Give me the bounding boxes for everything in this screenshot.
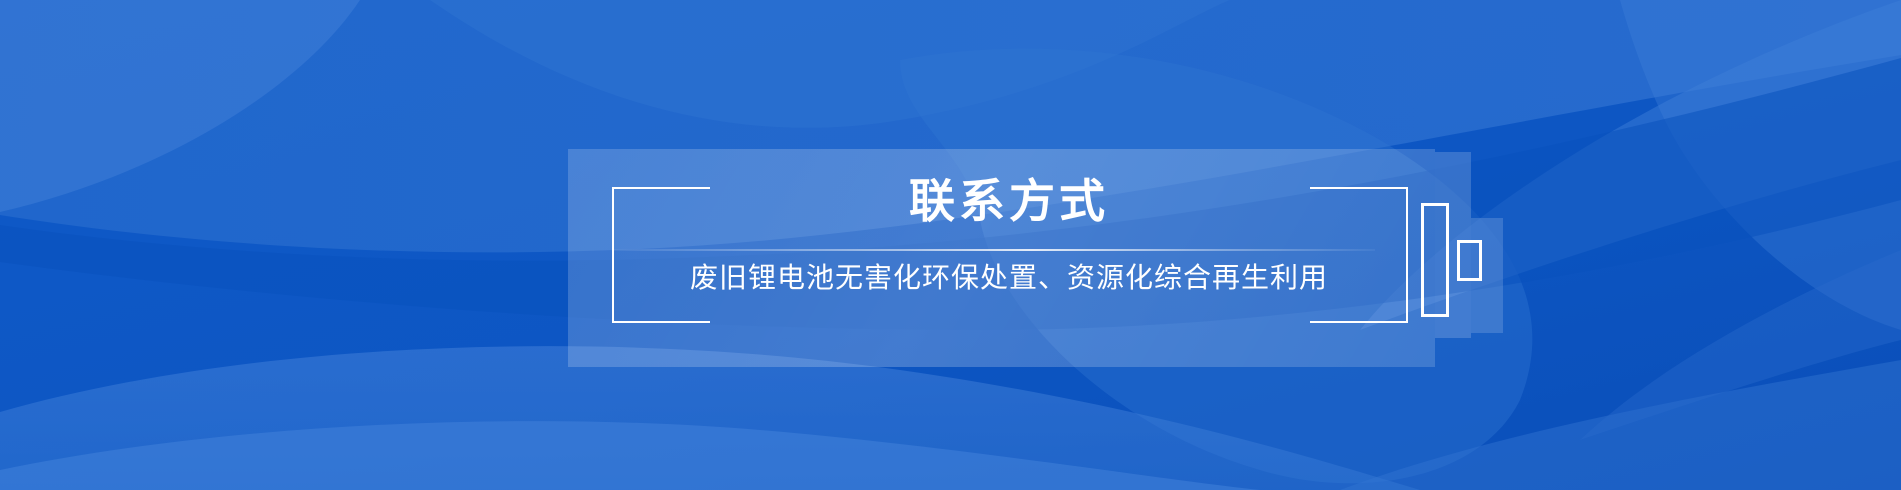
battery-small-icon bbox=[1457, 240, 1482, 281]
banner-subtitle: 废旧锂电池无害化环保处置、资源化综合再生利用 bbox=[612, 258, 1406, 298]
title-divider bbox=[613, 249, 1375, 251]
battery-tall-icon bbox=[1421, 203, 1449, 317]
banner-title: 联系方式 bbox=[612, 172, 1406, 230]
bracket-right-edge bbox=[1406, 187, 1408, 323]
page-banner: 联系方式 废旧锂电池无害化环保处置、资源化综合再生利用 bbox=[0, 0, 1901, 490]
